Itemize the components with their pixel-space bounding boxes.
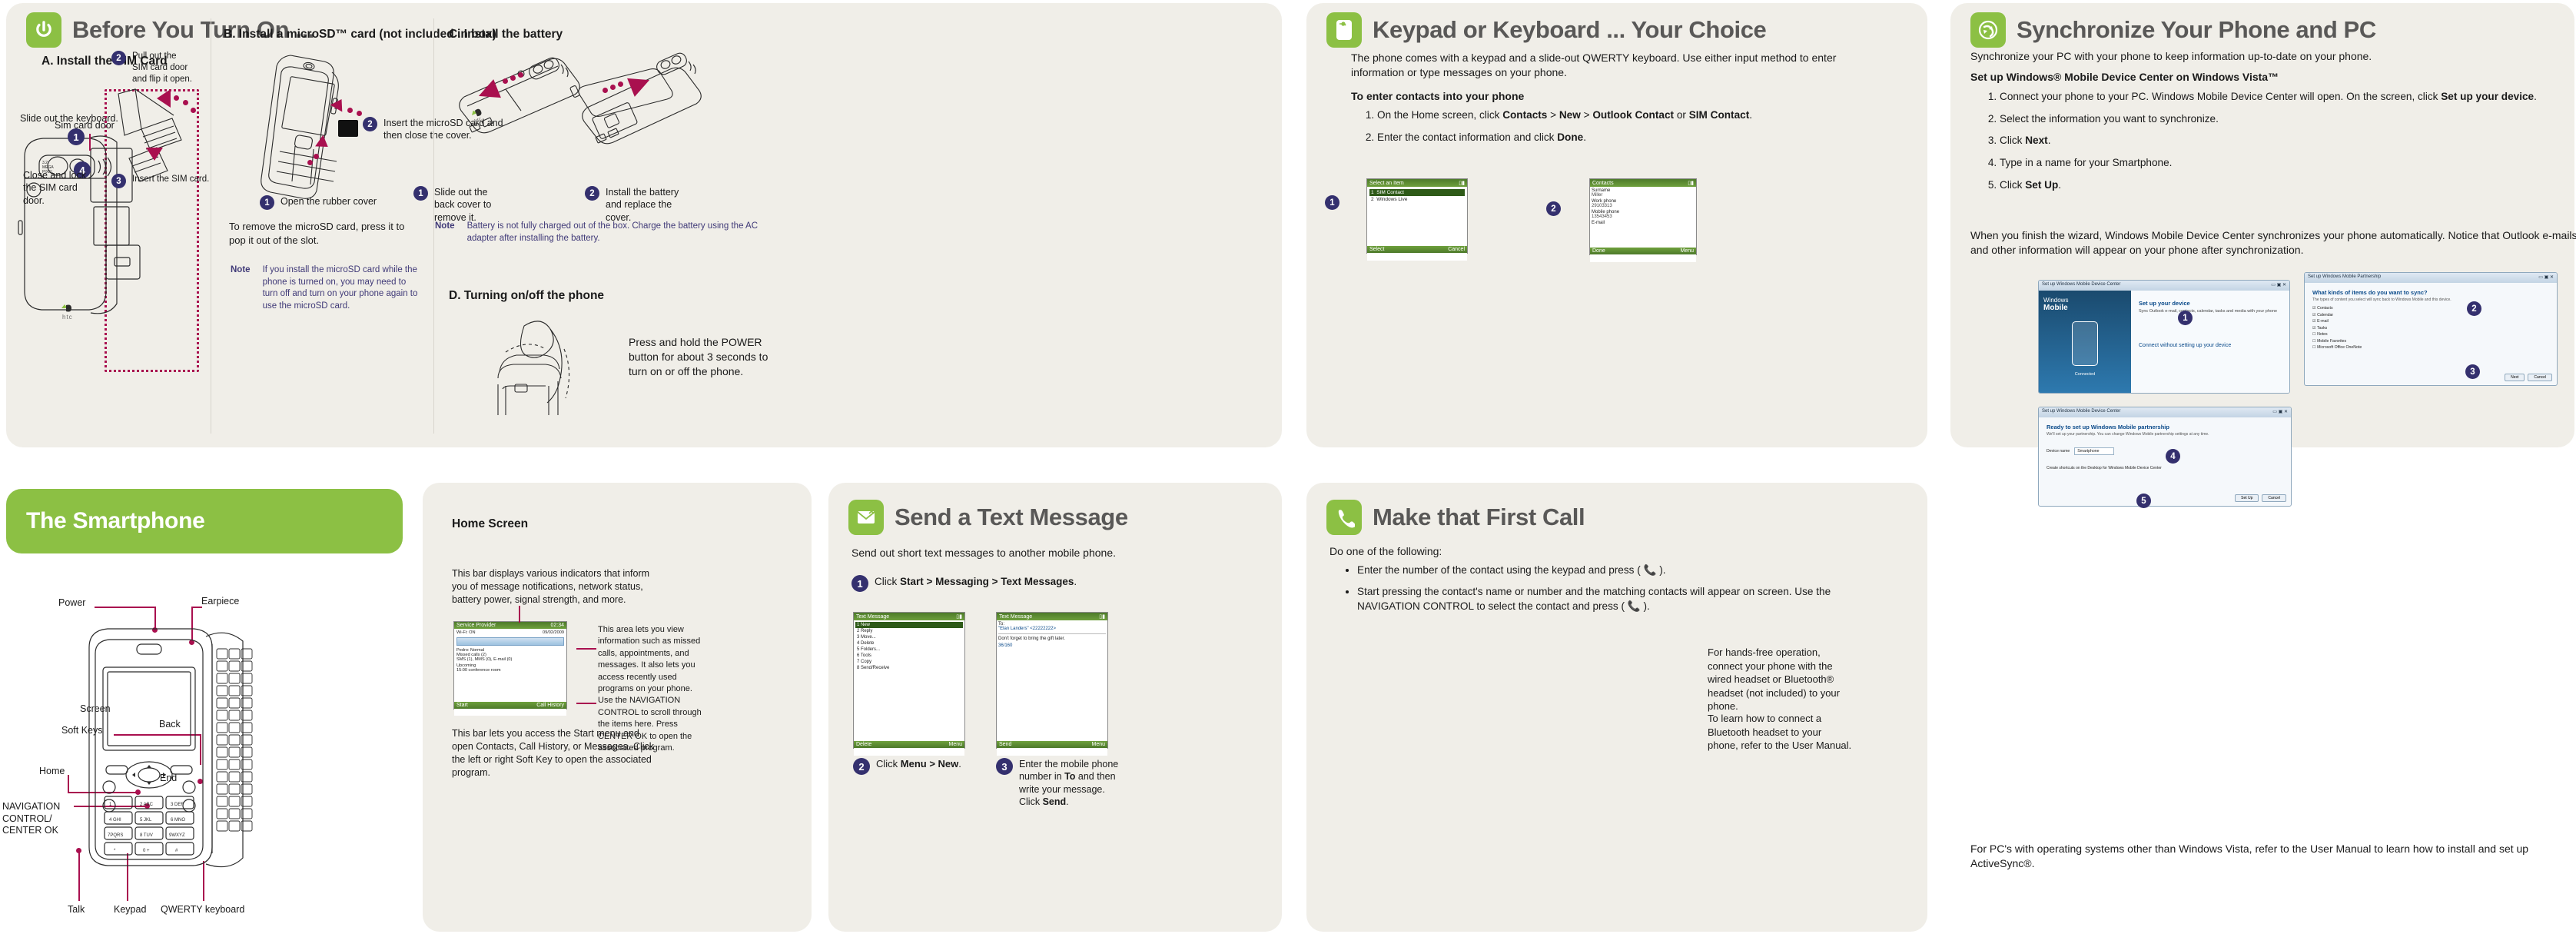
wmdc3-titlebar: Set up Windows Mobile Device Center ▭ ▣ … [2039,407,2291,417]
mock1-right-soft[interactable]: Cancel [1448,247,1465,252]
contacts-select-screen-mock: Select an Item ▯▮ 1 SIM Contact 2 Window… [1366,178,1468,254]
wmdc3-window-controls[interactable]: ▭ ▣ ✕ [2272,409,2288,416]
tm-menu-item[interactable]: 3 Move... [855,634,963,640]
sync-marker-4: 4 [2166,449,2180,464]
section-c-step-2: 2 Install the battery and replace the co… [585,186,681,224]
smartphone-banner-title: The Smartphone [26,508,205,534]
section-a-close-caption: Close and lock the SIM card door. [23,169,100,207]
label-earpiece: Earpiece [201,596,239,607]
home-mock-softbar: Start Call History [454,702,566,709]
panel-divider-a-b [211,18,211,434]
wmdc1-brand-1: Windows [2043,297,2126,304]
wmdc2-item[interactable]: ☑ Calendar [2312,313,2549,317]
mock2-value-mobilephone: 13543453 [1592,214,1695,219]
mock2-title: Contacts [1592,181,1614,186]
section-c-note-text: Battery is not fully charged out of the … [467,221,765,244]
mock2-titlebar: Contacts ▯▮ [1590,179,1696,187]
wmdc1-connect-link[interactable]: Connect without setting up your device [2139,343,2282,348]
keypad-panel-title: Keypad or Keyboard ... Your Choice [1373,16,1766,44]
wmdc2-title: Set up Windows Mobile Partnership [2308,274,2381,281]
first-call-bullets: Enter the number of the contact using th… [1357,563,1895,620]
text-message-step-1-bullet: 1 [851,575,868,592]
section-a-step-3: 3 Insert the SIM card. [111,174,209,188]
home-mock-soft-right[interactable]: Call History [536,703,564,708]
wmdc3-sub: We'll set up your partnership. You can c… [2047,432,2283,438]
section-a-step-2-bullet: 2 [111,51,126,65]
keypad-step-1: On the Home screen, click Contacts > New… [1377,108,1907,123]
panel-synchronize: Synchronize Your Phone and PC Synchroniz… [1950,3,2574,447]
svg-text:htc: htc [62,314,73,321]
section-a-step-2: 2 Pull out the SIM card door and flip it… [111,51,194,85]
svg-text:1: 1 [109,803,112,807]
sync-intro-text: Synchronize your PC with your phone to k… [1970,49,2570,64]
wmdc2-item[interactable]: ☑ Contacts [2312,306,2549,311]
first-call-bullet-2: Start pressing the contact's name or num… [1357,584,1895,614]
svg-text:7PQRS: 7PQRS [108,833,123,838]
home-screen-paragraph-3: This bar lets you access the Start menu … [452,727,659,779]
tm-left-body: 1 New 2 Reply 3 Move... 4 Delete 5 Folde… [854,620,964,756]
section-c-title: C. Install the battery [449,28,563,42]
section-d-title: D. Turning on/off the phone [449,289,604,303]
tm-right-title: Text Message [999,614,1032,620]
panel-divider-b-c [433,18,434,434]
mock2-value-workphone: 29103313 [1592,204,1695,208]
mock1-row-2: 2 Windows Live [1369,196,1465,203]
text-message-panel-title: Send a Text Message [895,504,1128,531]
first-call-side-text-1: For hands-free operation, connect your p… [1708,646,1854,713]
section-d-text: Press and hold the POWER button for abou… [629,335,775,379]
wmdc1-left-pane: Windows Mobile Connected [2039,291,2131,394]
home-mock-line-3: SMS (1), MMS (0), E-mail (0) [456,657,564,662]
tm-right-status-icons: ▯▮ [1099,613,1105,620]
section-b-note: Note If you install the microSD card whi… [231,264,423,312]
sync-subhead: Set up Windows® Mobile Device Center on … [1970,71,2279,83]
wmdc3-cancel-button[interactable]: Cancel [2262,494,2286,502]
message-icon [848,500,884,535]
mock1-titlebar: Select an Item ▯▮ [1367,179,1467,187]
wmdc1-right-pane: Set up your device Sync Outlook e-mail, … [2131,291,2289,394]
mock1-status-icons: ▯▮ [1459,180,1465,186]
wmdc3-device-name-input[interactable]: Smartphone [2074,447,2113,455]
first-call-bullet-1: Enter the number of the contact using th… [1357,563,1895,578]
svg-text:8 TUV: 8 TUV [140,833,153,838]
sync-after-text: When you finish the wizard, Windows Mobi… [1970,228,2576,258]
wmdc2-item[interactable]: ☐ Mobile Favorites [2312,339,2549,344]
tm-menu-item[interactable]: 1 New [855,622,963,628]
text-message-step-2-text: Click Menu > New. [876,758,961,771]
svg-text:3 DEF: 3 DEF [171,803,184,807]
wmdc2-item[interactable]: ☐ Microsoft Office OneNote [2312,345,2549,350]
wmdc3-setup-button[interactable]: Set Up [2235,494,2259,502]
sync-step-1: Connect your phone to your PC. Windows M… [2000,89,2576,105]
svg-text:9WXYZ: 9WXYZ [169,833,185,838]
section-b-note-text: If you install the microSD card while th… [263,264,423,312]
sim-insert-arrow [146,148,163,161]
home-screen-paragraph-1: This bar displays various indicators tha… [452,567,659,607]
phone-icon [1326,500,1362,535]
mock1-title: Select an Item [1369,181,1404,186]
text-message-compose-mock: Text Message ▯▮ To: "Elan Landers" <2222… [996,612,1108,749]
label-power: Power [58,597,85,608]
tm-right-body: To: "Elan Landers" <22222222> Don't forg… [997,620,1107,756]
tm-left-soft-right[interactable]: Menu [948,742,962,747]
mock1-softbar: Select Cancel [1367,246,1467,253]
section-c-step-1: 1 Slide out the back cover to remove it. [413,186,498,224]
wmdc2-item[interactable]: ☑ Tasks [2312,326,2549,331]
home-mock-titlebar: Service Provider 02:34 [454,622,566,629]
tm-menu-item[interactable]: 6 Tools [855,653,963,659]
svg-text:#: # [175,849,178,853]
section-c-note: Note Battery is not fully charged out of… [435,221,765,244]
smartphone-banner: The Smartphone [6,489,403,553]
sync-panel-title: Synchronize Your Phone and PC [2017,16,2376,44]
microsd-card-graphic [338,120,358,137]
home-mock-wifi: Wi-Fi: ON [456,630,476,635]
wmdc3-checkbox[interactable]: Create shortcuts on the Desktop for Wind… [2047,466,2283,470]
label-navigation-control-text: NAVIGATION CONTROL/ CENTER OK [2,801,60,836]
text-message-panel-header: Send a Text Message [848,500,1128,535]
sync-icon [1970,12,2006,48]
svg-text:2 ABC: 2 ABC [140,803,154,807]
wmdc1-window-controls[interactable]: ▭ ▣ ✕ [2271,282,2286,289]
wmdc-window-3: Set up Windows Mobile Device Center ▭ ▣ … [2038,407,2292,507]
keypad-subhead: To enter contacts into your phone [1351,90,1524,102]
tm-to-value[interactable]: "Elan Landers" <22222222> [998,627,1106,631]
sync-panel-header: Synchronize Your Phone and PC [1970,12,2376,48]
section-c-step-1-text: Slide out the back cover to remove it. [434,186,498,224]
wmdc2-titlebar: Set up Windows Mobile Partnership ▭ ▣ ✕ [2305,273,2557,283]
tm-right-softbar: Send Menu [997,741,1107,748]
first-call-side-text-2: To learn how to connect a Bluetooth head… [1708,712,1854,753]
wmdc2-sub: The types of content you select will syn… [2312,297,2549,302]
mock2-field-email: E-mail [1592,221,1695,225]
tm-menu-item[interactable]: 5 Folders... [855,646,963,653]
section-b-step-2-bullet: 2 [363,117,377,131]
home-mock-soft-left[interactable]: Start [456,703,468,708]
home-mock-date: 09/02/2009 [543,630,564,635]
wmdc2-items-list: ☑ Contacts ☑ Calendar ☑ E-mail ☑ Tasks ☐… [2312,306,2549,350]
mock1-left-soft[interactable]: Select [1369,247,1384,252]
tm-left-soft-left[interactable]: Delete [856,742,871,747]
power-icon [26,12,61,48]
wmdc1-setup-link[interactable]: Set up your device [2139,300,2282,307]
wmdc3-heading: Ready to set up Windows Mobile partnersh… [2047,424,2283,430]
section-c-step-2-text: Install the battery and replace the cove… [606,186,681,224]
sim-card-door-label: Sim card door [55,120,115,131]
svg-text:6 MNO: 6 MNO [171,818,185,823]
home-mock-line-5: 15:00 conference room [456,668,564,673]
tm-right-soft-right[interactable]: Menu [1091,742,1105,747]
tm-left-softbar: Delete Menu [854,741,964,748]
tm-menu-item[interactable]: 2 Reply [855,628,963,634]
wmdc2-heading: What kinds of items do you want to sync? [2312,289,2549,296]
sync-marker-3: 3 [2465,364,2480,379]
wmdc1-title: Set up Windows Mobile Device Center [2042,282,2120,289]
section-a-step-2-text: Pull out the SIM card door and flip it o… [132,51,194,85]
keypad-icon [1326,12,1362,48]
wmdc1-phone-graphic [2072,321,2098,366]
sync-step-5: Click Set Up. [2000,178,2576,193]
wmdc-window-1: Set up Windows Mobile Device Center ▭ ▣ … [2038,280,2290,394]
text-message-step-3-text: Enter the mobile phone number in To and … [1019,758,1119,808]
tm-right-soft-left[interactable]: Send [999,742,1011,747]
section-a-step-3-bullet: 3 [111,174,126,188]
tm-right-titlebar: Text Message ▯▮ [997,613,1107,620]
section-b-note-label: Note [231,264,251,312]
home-mock-time: 02:34 [550,623,564,628]
label-navigation-control: NAVIGATION CONTROL/ CENTER OK [2,801,73,837]
first-call-panel-title: Make that First Call [1373,504,1585,531]
section-b-step-1: 1 Open the rubber cover [260,195,377,210]
tm-left-title: Text Message [856,614,889,620]
svg-text:4 GHI: 4 GHI [109,818,121,823]
text-message-step-1: 1 Click Start > Messaging > Text Message… [851,575,1159,592]
keypad-intro-text: The phone comes with a keypad and a slid… [1351,51,1858,80]
tm-body-text[interactable]: Don't forget to bring the gift later. [998,637,1106,641]
text-message-step-1-text: Click Start > Messaging > Text Messages. [875,575,1077,589]
sim-flip-arrow [157,89,171,108]
panel-send-text-message: Send a Text Message Send out short text … [828,483,1282,932]
wmdc-window-2: Set up Windows Mobile Partnership ▭ ▣ ✕ … [2304,272,2558,386]
battery-install-illustration [573,51,727,158]
mock2-value-surname: Miller [1592,193,1695,198]
section-a-step-3-text: Insert the SIM card. [132,174,209,185]
sync-marker-5: 5 [2136,494,2151,508]
svg-text:5 JKL: 5 JKL [140,818,152,823]
wmdc1-titlebar: Set up Windows Mobile Device Center ▭ ▣ … [2039,281,2289,291]
section-c-note-label: Note [435,221,455,244]
keypad-marker-1: 1 [1325,195,1339,210]
power-button-hand-illustration [490,315,613,415]
svg-text:*: * [114,849,116,853]
contact-details-screen-mock: Contacts ▯▮ Surname Miller Work phone 29… [1589,178,1697,255]
wmdc1-status: Connected [2043,372,2126,377]
sync-footer-text: For PC's with operating systems other th… [1970,842,2570,871]
keypad-steps-list: On the Home screen, click Contacts > New… [1377,108,1907,151]
first-call-panel-header: Make that First Call [1326,500,1585,535]
mock2-status-icons: ▯▮ [1688,180,1694,186]
home-screen-mock: Service Provider 02:34 Wi-Fi: ON 09/02/2… [453,621,567,710]
quickstart-guide-page: Before You Turn On ... A. Install the SI… [0,0,2576,934]
mock2-softbar: Done Menu [1590,248,1696,254]
panel-keypad-keyboard: Keypad or Keyboard ... Your Choice The p… [1306,3,1927,447]
mock2-right-soft[interactable]: Menu [1680,248,1694,254]
tm-left-titlebar: Text Message ▯▮ [854,613,964,620]
tm-menu-item[interactable]: 4 Delete [855,640,963,646]
tm-menu-item[interactable]: 7 Copy [855,659,963,665]
svg-text:0 +: 0 + [143,849,150,853]
mock1-row-1: 1 SIM Contact [1369,189,1465,196]
wmdc2-cancel-button[interactable]: Cancel [2528,374,2552,381]
panel-make-first-call: Make that First Call Do one of the follo… [1306,483,1927,932]
home-mock-icon-row [456,637,564,646]
text-message-step-2-bullet: 2 [853,758,870,775]
label-home: Home [39,766,65,776]
section-b-step-1-text: Open the rubber cover [281,195,377,208]
section-b-step-1-bullet: 1 [260,195,274,210]
smartphone-front-illustration: 12 ABC3 DEF 4 GHI5 JKL6 MNO 7PQRS8 TUV9W… [71,623,309,915]
home-screen-title: Home Screen [452,517,528,531]
panel-before-you-turn-on: Before You Turn On ... A. Install the SI… [6,3,1282,447]
wmdc1-brand-2: Mobile [2043,304,2126,312]
section-b-remove-text: To remove the microSD card, press it to … [229,220,421,247]
sync-step-2: Select the information you want to synch… [2000,111,2576,127]
tm-menu-item[interactable]: 8 Send/Receive [855,665,963,671]
wmdc2-next-button[interactable]: Next [2505,374,2525,381]
wmdc2-item[interactable]: ☐ Notes [2312,332,2549,337]
sync-step-3: Click Next. [2000,133,2576,148]
sync-steps-list: Connect your phone to your PC. Windows M… [2000,89,2576,200]
tm-counter: 36/160 [998,643,1106,648]
home-mock-carrier: Service Provider [456,623,496,628]
sim-door-leader-line [89,134,91,151]
section-c-step-2-bullet: 2 [585,186,599,201]
wmdc3-field-label: Device name [2047,449,2070,454]
keypad-panel-header: Keypad or Keyboard ... Your Choice [1326,12,1766,48]
wmdc1-setup-sub: Sync Outlook e-mail, contacts, calendar,… [2139,309,2282,315]
text-message-step-3-bullet: 3 [996,758,1013,775]
wmdc2-item[interactable]: ☑ E-mail [2312,319,2549,324]
panel-home-screen: Home Screen This bar displays various in… [423,483,812,932]
first-call-intro: Do one of the following: [1329,544,1791,559]
text-message-step-2: 2 Click Menu > New. [853,758,968,775]
tm-left-status-icons: ▯▮ [956,613,962,620]
text-message-menu-mock: Text Message ▯▮ 1 New 2 Reply 3 Move... … [853,612,965,749]
svg-text:htc: htc [473,116,483,124]
keypad-step-2: Enter the contact information and click … [1377,130,1907,145]
mock2-left-soft[interactable]: Done [1592,248,1605,254]
sync-marker-1: 1 [2178,311,2193,325]
text-message-step-3: 3 Enter the mobile phone number in To an… [996,758,1119,808]
wmdc2-window-controls[interactable]: ▭ ▣ ✕ [2538,274,2554,281]
wmdc3-title: Set up Windows Mobile Device Center [2042,409,2120,416]
text-message-intro: Send out short text messages to another … [851,546,1251,560]
sync-marker-2: 2 [2467,301,2481,316]
keypad-marker-2: 2 [1546,201,1561,216]
sync-step-4: Type in a name for your Smartphone. [2000,155,2576,171]
section-a-step-1-bullet: 1 [68,128,85,145]
section-c-step-1-bullet: 1 [413,186,428,201]
